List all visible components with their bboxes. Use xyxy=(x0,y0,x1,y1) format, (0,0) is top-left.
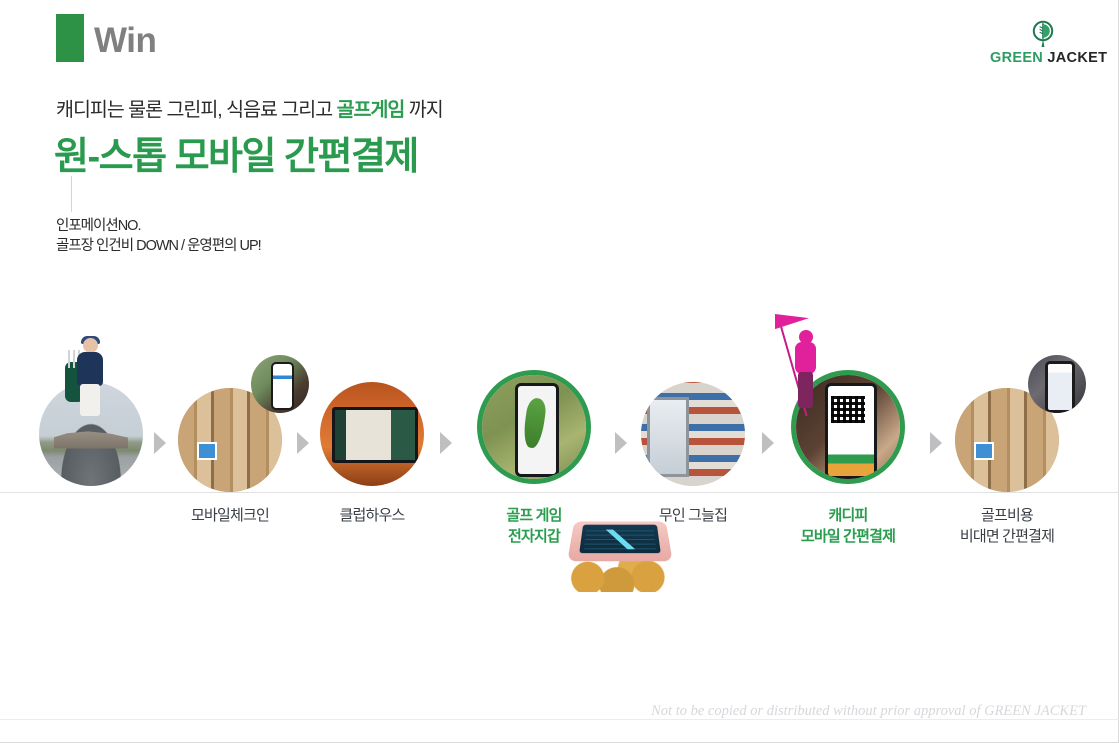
logo-word-jacket: JACKET xyxy=(1047,50,1107,66)
flow-arrow-4 xyxy=(615,432,627,454)
copyright-notice: Not to be copied or distributed without … xyxy=(651,703,1086,720)
logo-wordmark: GREEN JACKET xyxy=(990,50,1096,66)
convenience-store-fridge-photo xyxy=(641,382,745,486)
flow-step-label: 골프비용 비대면 간편결제 xyxy=(897,505,1117,547)
logo-word-green: GREEN xyxy=(990,50,1043,66)
pink-caddie-flag-cutout xyxy=(775,314,839,426)
flow-arrow-5 xyxy=(762,432,774,454)
golf-ball-tee-icon xyxy=(990,20,1096,48)
green-jacket-logo: GREEN JACKET xyxy=(990,20,1096,66)
subtext-line-1: 인포메이션NO. xyxy=(56,216,261,236)
flow-step-label-line1: 골프비용 xyxy=(897,505,1117,526)
flow-divider-line xyxy=(0,492,1119,493)
kicker-highlight: 골프게임 xyxy=(337,99,405,121)
phone-golf-hole-map-photo xyxy=(477,370,591,484)
kicker-after: 까지 xyxy=(404,99,442,121)
page-title: 원-스톱 모바일 간편결제 xyxy=(54,125,418,180)
golfer-cutout xyxy=(67,338,115,416)
kicker-line: 캐디피는 물론 그린피, 식음료 그리고 골프게임 까지 xyxy=(56,93,443,122)
flow-arrow-6 xyxy=(930,432,942,454)
flow-arrow-1 xyxy=(154,432,166,454)
wallet-coins-cutout xyxy=(565,516,677,594)
flow-arrow-2 xyxy=(297,432,309,454)
subtext-line-2: 골프장 인건비 DOWN / 운영편의 UP! xyxy=(56,236,261,256)
flow-step-label-line2: 비대면 간편결제 xyxy=(897,526,1117,547)
title-tick-divider xyxy=(71,176,72,212)
slide-canvas: Win GREEN JACKET 캐디피는 물론 그린피, 식음료 그리고 골프… xyxy=(0,0,1119,743)
win-accent-bar xyxy=(56,14,84,62)
kiosk-tablet-menu-photo xyxy=(320,382,424,486)
win-badge-label: Win xyxy=(94,20,156,62)
journey-flow: 모바일체크인 클럽하우스 골프 게임 전자지갑 xyxy=(0,330,1119,610)
kicker-before: 캐디피는 물론 그린피, 식음료 그리고 xyxy=(56,99,337,121)
hand-holding-phone-photo xyxy=(251,355,309,413)
subtext-block: 인포메이션NO. 골프장 인건비 DOWN / 운영편의 UP! xyxy=(56,216,261,256)
hand-holding-phone-receipt-photo xyxy=(1028,355,1086,413)
flow-arrow-3 xyxy=(440,432,452,454)
